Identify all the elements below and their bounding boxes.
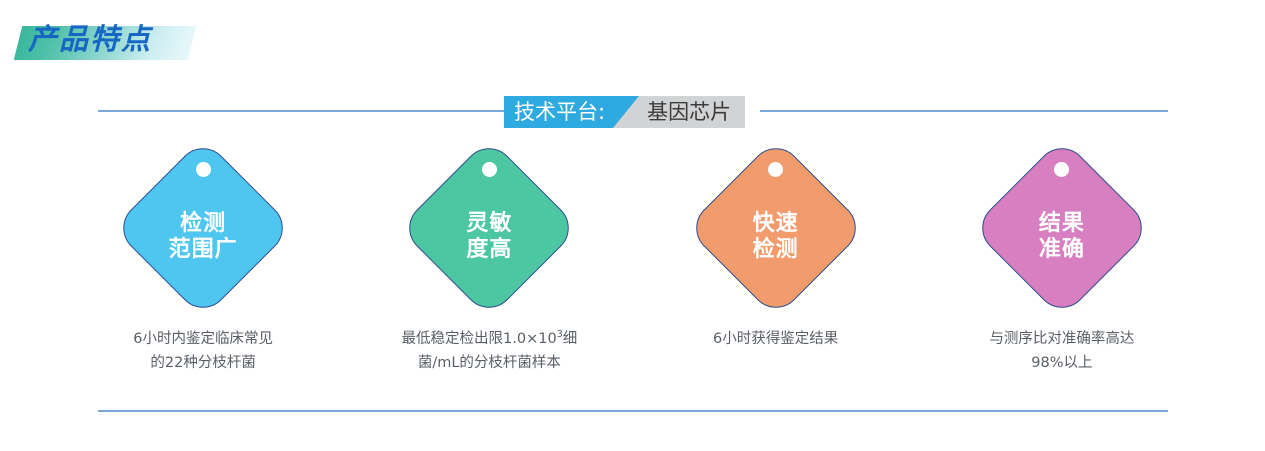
feature-list: 检测 范围广 6小时内鉴定临床常见 的22种分枝杆菌 灵敏 度高 最低稳定检出限… — [60, 140, 1205, 385]
platform-label: 技术平台: — [504, 96, 613, 128]
feature-card-accurate-result: 结果 准确 与测序比对准确率高达 98%以上 — [919, 140, 1205, 385]
divider-line-left — [98, 110, 510, 112]
diamond-badge: 灵敏 度高 — [401, 140, 577, 316]
diamond-badge: 结果 准确 — [974, 140, 1150, 316]
diamond-label: 结果 准确 — [1039, 211, 1085, 263]
feature-card-high-sensitivity: 灵敏 度高 最低稳定检出限1.0×103细 菌/mL的分枝杆菌样本 — [346, 140, 632, 385]
diamond-badge: 快速 检测 — [688, 140, 864, 316]
feature-caption: 6小时获得鉴定结果 — [671, 328, 881, 352]
dot-icon — [482, 162, 497, 177]
page-title: 产品特点 — [28, 16, 248, 62]
caption-tail: 细 — [563, 331, 578, 347]
diamond-badge: 检测 范围广 — [115, 140, 291, 316]
divider-line-right — [760, 110, 1168, 112]
feature-card-detection-range: 检测 范围广 6小时内鉴定临床常见 的22种分枝杆菌 — [60, 140, 346, 385]
platform-chip: 技术平台: 基因芯片 — [504, 96, 745, 128]
feature-caption: 最低稳定检出限1.0×103细 菌/mL的分枝杆菌样本 — [384, 328, 594, 376]
caption-line-2: 98%以上 — [1031, 355, 1092, 371]
caption-line-1: 最低稳定检出限1.0×10 — [402, 331, 557, 347]
feature-caption: 与测序比对准确率高达 98%以上 — [957, 328, 1167, 376]
dot-icon — [196, 162, 211, 177]
platform-header-row: 技术平台: 基因芯片 — [98, 96, 1168, 132]
caption-line-1: 与测序比对准确率高达 — [989, 331, 1134, 347]
feature-card-fast-detection: 快速 检测 6小时获得鉴定结果 — [633, 140, 919, 385]
caption-line-1: 6小时内鉴定临床常见 — [133, 331, 273, 347]
divider-line-bottom — [98, 410, 1168, 412]
feature-caption: 6小时内鉴定临床常见 的22种分枝杆菌 — [98, 328, 308, 376]
caption-line-1: 6小时获得鉴定结果 — [713, 331, 838, 347]
diamond-label: 检测 范围广 — [169, 211, 238, 263]
diamond-label: 快速 检测 — [753, 211, 799, 263]
diamond-label: 灵敏 度高 — [466, 211, 512, 263]
caption-line-2: 菌/mL的分枝杆菌样本 — [418, 355, 561, 371]
platform-slant-divider — [613, 96, 639, 128]
platform-value: 基因芯片 — [639, 96, 745, 128]
caption-line-2: 的22种分枝杆菌 — [150, 355, 255, 371]
